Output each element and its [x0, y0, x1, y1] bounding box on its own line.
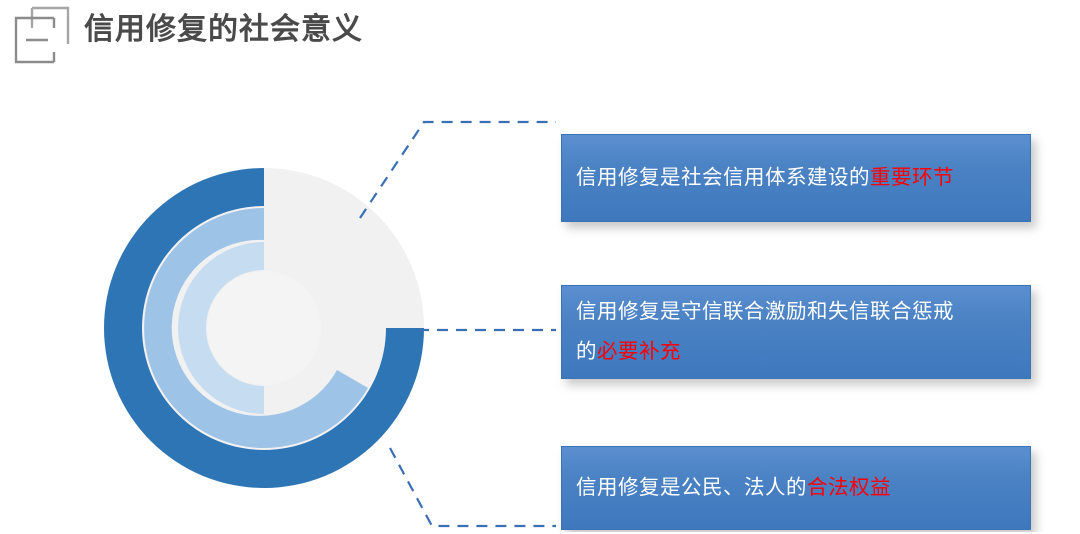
donut-core	[207, 271, 321, 385]
callout-highlight: 重要环节	[870, 166, 954, 189]
callout-highlight: 合法权益	[807, 476, 891, 499]
callout-line: 信用修复是公民、法人的合法权益	[576, 468, 891, 508]
concentric-donut-diagram	[92, 158, 437, 503]
callout-credit-repair-legal-rights[interactable]: 信用修复是公民、法人的合法权益	[561, 446, 1031, 530]
callout-text: 信用修复是公民、法人的	[576, 476, 807, 499]
callout-credit-repair-key-link[interactable]: 信用修复是社会信用体系建设的重要环节	[561, 134, 1031, 222]
callout-line: 信用修复是守信联合激励和失信联合惩戒	[576, 292, 954, 332]
callout-text: 信用修复是社会信用体系建设的	[576, 166, 870, 189]
callout-text: 信用修复是守信联合激励和失信联合惩戒	[576, 300, 954, 323]
callout-highlight: 必要补充	[597, 340, 681, 363]
slide-header: 信用修复的社会意义	[0, 0, 1080, 72]
callout-credit-repair-necessary-supplement[interactable]: 信用修复是守信联合激励和失信联合惩戒 的必要补充	[561, 285, 1031, 379]
callout-line: 的必要补充	[576, 332, 954, 372]
callout-line: 信用修复是社会信用体系建设的重要环节	[576, 158, 954, 198]
page-title: 信用修复的社会意义	[84, 8, 363, 52]
callout-text: 的	[576, 340, 597, 363]
double-square-bracket-logo	[10, 4, 72, 66]
